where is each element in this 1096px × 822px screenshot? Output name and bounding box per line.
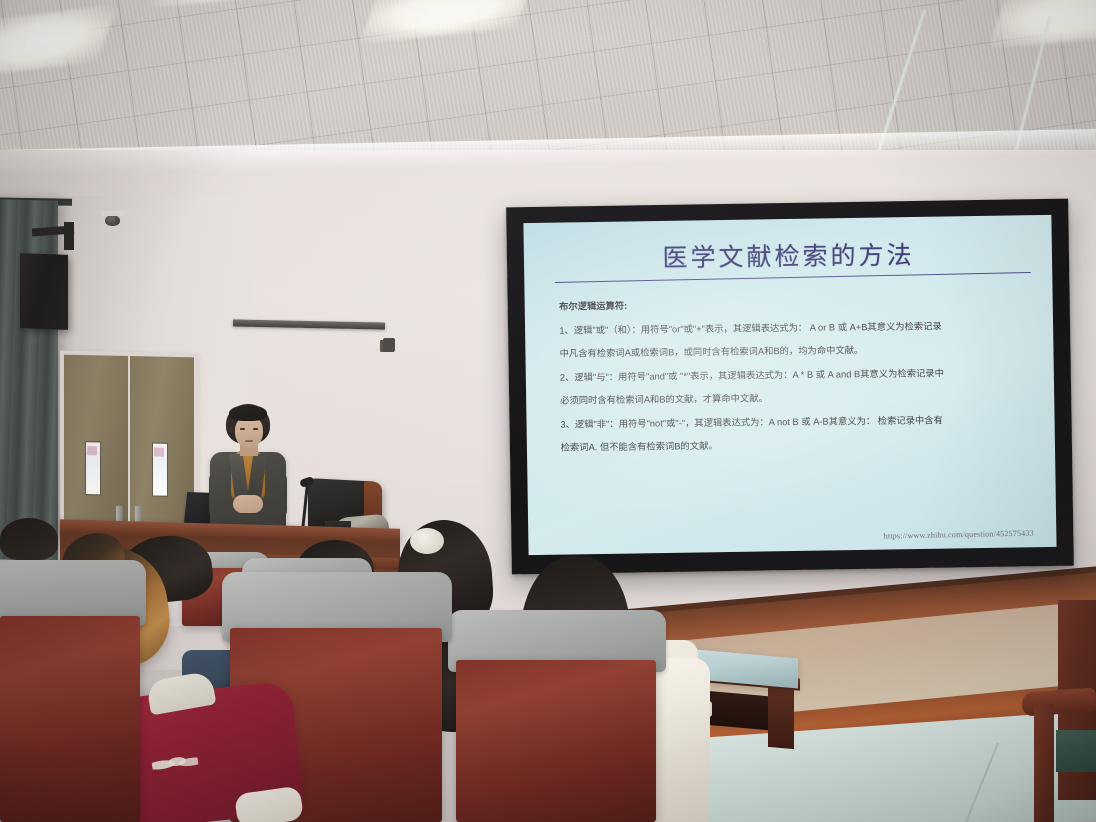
presenter-mouth (245, 440, 253, 442)
presenter-eye (253, 428, 258, 430)
door-window (85, 441, 101, 495)
door-left-leaf[interactable] (64, 355, 128, 542)
presenter-eye (240, 428, 245, 430)
presentation-slide: 医学文献检索的方法 布尔逻辑运算符: 1、逻辑"或"（和）：用符号"or"或"+… (524, 216, 1056, 554)
lecture-hall-screenshot: 医学文献检索的方法 布尔逻辑运算符: 1、逻辑"或"（和）：用符号"or"或"+… (0, 0, 1096, 822)
wooden-armchair-armrest (1021, 687, 1096, 716)
lecture-hall-seat (456, 660, 656, 822)
projector-mount (383, 338, 395, 352)
dome-camera-icon (105, 215, 120, 226)
lecture-hall-seat (0, 616, 140, 822)
slide-source-url: https://www.zhihu.com/question/452575433 (883, 529, 1033, 541)
slide-body: 布尔逻辑运算符: 1、逻辑"或"（和）：用符号"or"或"+"表示，其逻辑表达式… (559, 290, 1039, 460)
speaker-bracket (64, 222, 74, 250)
projection-screen[interactable]: 医学文献检索的方法 布尔逻辑运算符: 1、逻辑"或"（和）：用符号"or"或"+… (506, 199, 1074, 575)
presenter-fringe (229, 405, 267, 421)
screen-surface: 医学文献检索的方法 布尔逻辑运算符: 1、逻辑"或"（和）：用符号"or"或"+… (523, 215, 1056, 555)
wall-speaker (20, 253, 68, 330)
slide-title: 医学文献检索的方法 (524, 234, 1052, 276)
double-door-entrance[interactable] (60, 351, 198, 544)
door-window (152, 442, 168, 496)
slide-line: 检索词A. 但不能含有检索词B的文献。 (561, 431, 1039, 460)
wooden-armchair-seat (1056, 730, 1096, 772)
presenter-hands (233, 495, 263, 513)
hair-scrunchie (410, 528, 444, 554)
attendee-head (0, 518, 58, 560)
wooden-armchair-post (1034, 704, 1054, 822)
